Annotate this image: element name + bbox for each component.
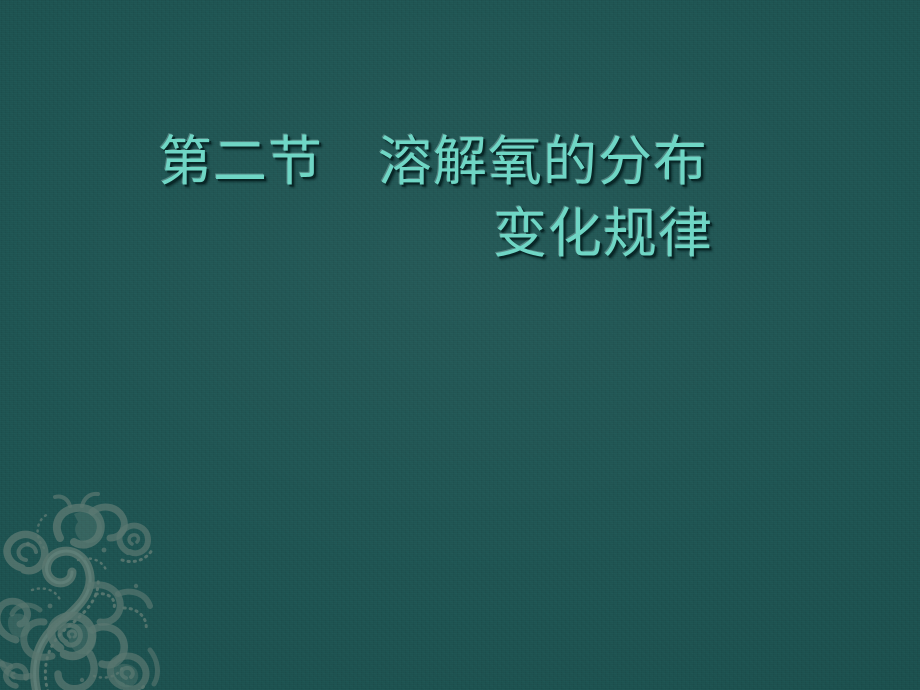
title-line-1: 第二节 溶解氧的分布 [0, 126, 920, 198]
title-line-2: 变化规律 [0, 198, 920, 270]
background-texture [0, 0, 920, 690]
paisley-damask-ornament-icon [0, 490, 166, 690]
vignette-overlay [0, 0, 920, 690]
slide-title: 第二节 溶解氧的分布 变化规律 [0, 126, 920, 270]
presentation-slide: 第二节 溶解氧的分布 变化规律 [0, 0, 920, 690]
